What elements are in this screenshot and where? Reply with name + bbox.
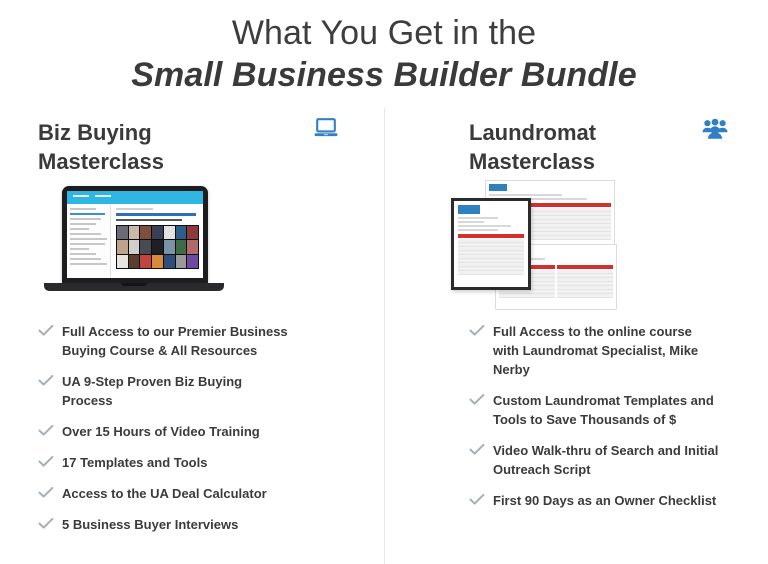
sidebar-line [70,248,89,250]
sidebar-line [70,223,96,225]
document-line [458,221,484,223]
feature-list-laundromat: Full Access to the online course with La… [469,322,768,510]
page-title: What You Get in the Small Business Build… [0,0,768,96]
list-item: 17 Templates and Tools [38,453,384,472]
video-tile [164,240,175,253]
list-item: 5 Business Buyer Interviews [38,515,384,534]
column-laundromat-masterclass: Laundromat Masterclass [384,108,768,564]
video-tile [152,240,163,253]
table-row [557,294,613,298]
check-icon [38,374,54,387]
video-tile [164,226,175,239]
table-header [557,265,613,269]
document-table [557,265,613,298]
document-line [458,217,498,219]
feature-text: Video Walk-thru of Search and Initial Ou… [493,441,721,479]
list-item: Access to the UA Deal Calculator [38,484,384,503]
content-heading-line [116,213,196,216]
feature-text: UA 9-Step Proven Biz Buying Process [62,372,294,410]
video-tile [187,226,198,239]
sidebar-line [70,218,101,220]
check-icon [469,324,485,337]
feature-text: 5 Business Buyer Interviews [62,515,238,534]
feature-text: Custom Laundromat Templates and Tools to… [493,391,721,429]
video-tile [140,255,151,268]
video-tile [117,255,128,268]
video-tile [152,226,163,239]
document-logo [489,184,507,191]
bundle-columns: Biz Buying Masterclass [0,108,768,564]
laptop-device [44,186,224,304]
sidebar-line [70,228,89,230]
document-page-front [451,198,531,290]
video-tile [187,240,198,253]
page-title-line-1: What You Get in the [0,12,768,54]
course-topbar [67,191,203,204]
feature-text: Full Access to the online course with La… [493,322,721,379]
laptop-lid [62,186,208,284]
video-tile [129,226,140,239]
document-line [458,225,511,227]
check-icon [469,493,485,506]
list-item: UA 9-Step Proven Biz Buying Process [38,372,384,410]
feature-text: First 90 Days as an Owner Checklist [493,491,716,510]
document-line [458,229,498,231]
sidebar-line [70,213,105,215]
table-header [458,234,524,238]
document-table [458,234,524,275]
video-tile [164,255,175,268]
sidebar-line [70,258,101,260]
laptop-icon [314,118,338,138]
spreadsheet-templates-collage [469,184,768,304]
column-header-right: Laundromat Masterclass [469,108,768,180]
list-item: Video Walk-thru of Search and Initial Ou… [469,441,768,479]
laptop-screen [67,191,203,278]
users-group-icon [702,118,728,139]
list-item: Custom Laundromat Templates and Tools to… [469,391,768,429]
column-title-biz-buying: Biz Buying Masterclass [38,118,238,176]
sidebar-line [70,208,96,210]
check-icon [38,455,54,468]
check-icon [38,517,54,530]
check-icon [38,424,54,437]
video-tile [117,240,128,253]
video-tile [176,240,187,253]
column-biz-buying-masterclass: Biz Buying Masterclass [0,108,384,564]
laptop-course-mockup [38,184,384,304]
feature-text: Access to the UA Deal Calculator [62,484,267,503]
check-icon [38,486,54,499]
course-body [67,204,203,278]
video-tile [117,226,128,239]
video-tile [176,226,187,239]
feature-text: Over 15 Hours of Video Training [62,422,260,441]
sidebar-line [70,263,107,265]
video-tile [152,255,163,268]
list-item: Over 15 Hours of Video Training [38,422,384,441]
table-row [458,271,524,275]
sidebar-line [70,233,101,235]
check-icon [38,324,54,337]
video-tile [176,255,187,268]
video-tile [140,226,151,239]
feature-list-biz-buying: Full Access to our Premier Business Buyi… [38,322,384,534]
sidebar-line [70,243,105,245]
feature-text: Full Access to our Premier Business Buyi… [62,322,294,360]
content-subheading-line [116,219,182,221]
table-row [499,294,555,298]
sidebar-line [70,253,96,255]
course-sidebar [67,204,111,278]
video-thumbnail-grid [116,225,199,269]
video-tile [129,240,140,253]
check-icon [469,443,485,456]
document-line [489,194,562,196]
sidebar-line [70,238,107,240]
list-item: Full Access to the online course with La… [469,322,768,379]
content-line [116,208,153,210]
list-item: Full Access to our Premier Business Buyi… [38,322,384,360]
video-tile [187,255,198,268]
course-main [111,204,203,278]
laptop-base [44,283,224,291]
page-title-line-2: Small Business Builder Bundle [0,54,768,96]
document-logo [458,205,480,214]
video-tile [129,255,140,268]
column-header-left: Biz Buying Masterclass [38,108,384,180]
check-icon [469,393,485,406]
video-tile [140,240,151,253]
column-title-laundromat: Laundromat Masterclass [469,118,669,176]
feature-text: 17 Templates and Tools [62,453,207,472]
document-stack [451,180,627,312]
list-item: First 90 Days as an Owner Checklist [469,491,768,510]
